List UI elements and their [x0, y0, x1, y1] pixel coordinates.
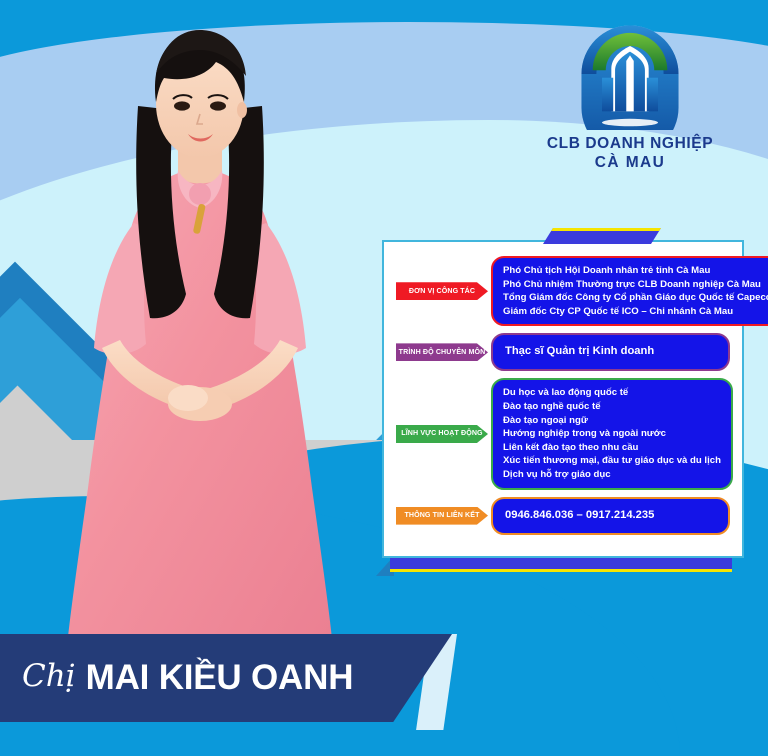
info-row-workplace: ĐƠN VỊ CÔNG TÁC Phó Chủ tịch Hội Doanh n…	[396, 256, 730, 326]
workplace-line-4: Giám đốc Cty CP Quốc tế ICO – Chi nhánh …	[503, 305, 768, 319]
tag-thong-tin-lien-ket: THÔNG TIN LIÊN KẾT	[396, 507, 488, 525]
tag-linh-vuc-hoat-dong: LĨNH VỰC HOẠT ĐỘNG	[396, 425, 488, 443]
brand-name-line1: CLB DOANH NGHIỆP	[530, 135, 730, 154]
activity-line-2: Đào tạo nghề quốc tế	[503, 400, 721, 414]
bubble-linh-vuc-hoat-dong: Du học và lao động quốc tế Đào tạo nghề …	[491, 378, 733, 489]
profile-poster: CLB DOANH NGHIỆP CÀ MAU ĐƠN VỊ CÔNG TÁC …	[0, 0, 768, 756]
tag-don-vi-cong-tac: ĐƠN VỊ CÔNG TÁC	[396, 282, 488, 300]
workplace-line-1: Phó Chủ tịch Hội Doanh nhân trẻ tỉnh Cà …	[503, 264, 768, 278]
contact-phone-numbers: 0946.846.036 – 0917.214.235	[505, 508, 716, 524]
activity-line-6: Xúc tiến thương mại, đầu tư giáo dục và …	[503, 454, 721, 468]
clb-logo-icon	[574, 18, 686, 130]
bubble-trinh-do-chuyen-mon: Thạc sĩ Quản trị Kinh doanh	[491, 333, 730, 371]
card-top-tab	[543, 228, 661, 244]
workplace-line-3: Tổng Giám đốc Công ty Cổ phần Giáo dục Q…	[503, 291, 768, 305]
tag-trinh-do-chuyen-mon: TRÌNH ĐỘ CHUYÊN MÔN	[396, 343, 488, 361]
workplace-line-2: Phó Chủ nhiệm Thường trực CLB Doanh nghi…	[503, 278, 768, 292]
bubble-thong-tin-lien-ket[interactable]: 0946.846.036 – 0917.214.235	[491, 497, 730, 535]
brand-logo-block: CLB DOANH NGHIỆP CÀ MAU	[530, 18, 730, 173]
activity-line-3: Đào tạo ngoại ngữ	[503, 414, 721, 428]
brand-name-line2: CÀ MAU	[530, 154, 730, 173]
info-row-qualification: TRÌNH ĐỘ CHUYÊN MÔN Thạc sĩ Quản trị Kin…	[396, 333, 730, 371]
activity-line-5: Liên kết đào tạo theo nhu cầu	[503, 441, 721, 455]
honorific-text: Chị	[22, 658, 76, 694]
bubble-don-vi-cong-tac: Phó Chủ tịch Hội Doanh nhân trẻ tỉnh Cà …	[491, 256, 768, 326]
info-row-activities: LĨNH VỰC HOẠT ĐỘNG Du học và lao động qu…	[396, 378, 730, 489]
activity-line-7: Dịch vụ hỗ trợ giáo dục	[503, 468, 721, 482]
activity-line-1: Du học và lao động quốc tế	[503, 386, 721, 400]
card-bottom-bar	[390, 556, 732, 572]
name-banner: Chị MAI KIỀU OANH	[0, 634, 452, 722]
profile-info-card: ĐƠN VỊ CÔNG TÁC Phó Chủ tịch Hội Doanh n…	[382, 240, 744, 558]
qualification-line-1: Thạc sĩ Quản trị Kinh doanh	[505, 344, 716, 360]
person-full-name: MAI KIỀU OANH	[86, 658, 354, 698]
person-photo	[10, 18, 390, 638]
activity-line-4: Hướng nghiệp trong và ngoài nước	[503, 427, 721, 441]
info-row-contact: THÔNG TIN LIÊN KẾT 0946.846.036 – 0917.2…	[396, 497, 730, 535]
